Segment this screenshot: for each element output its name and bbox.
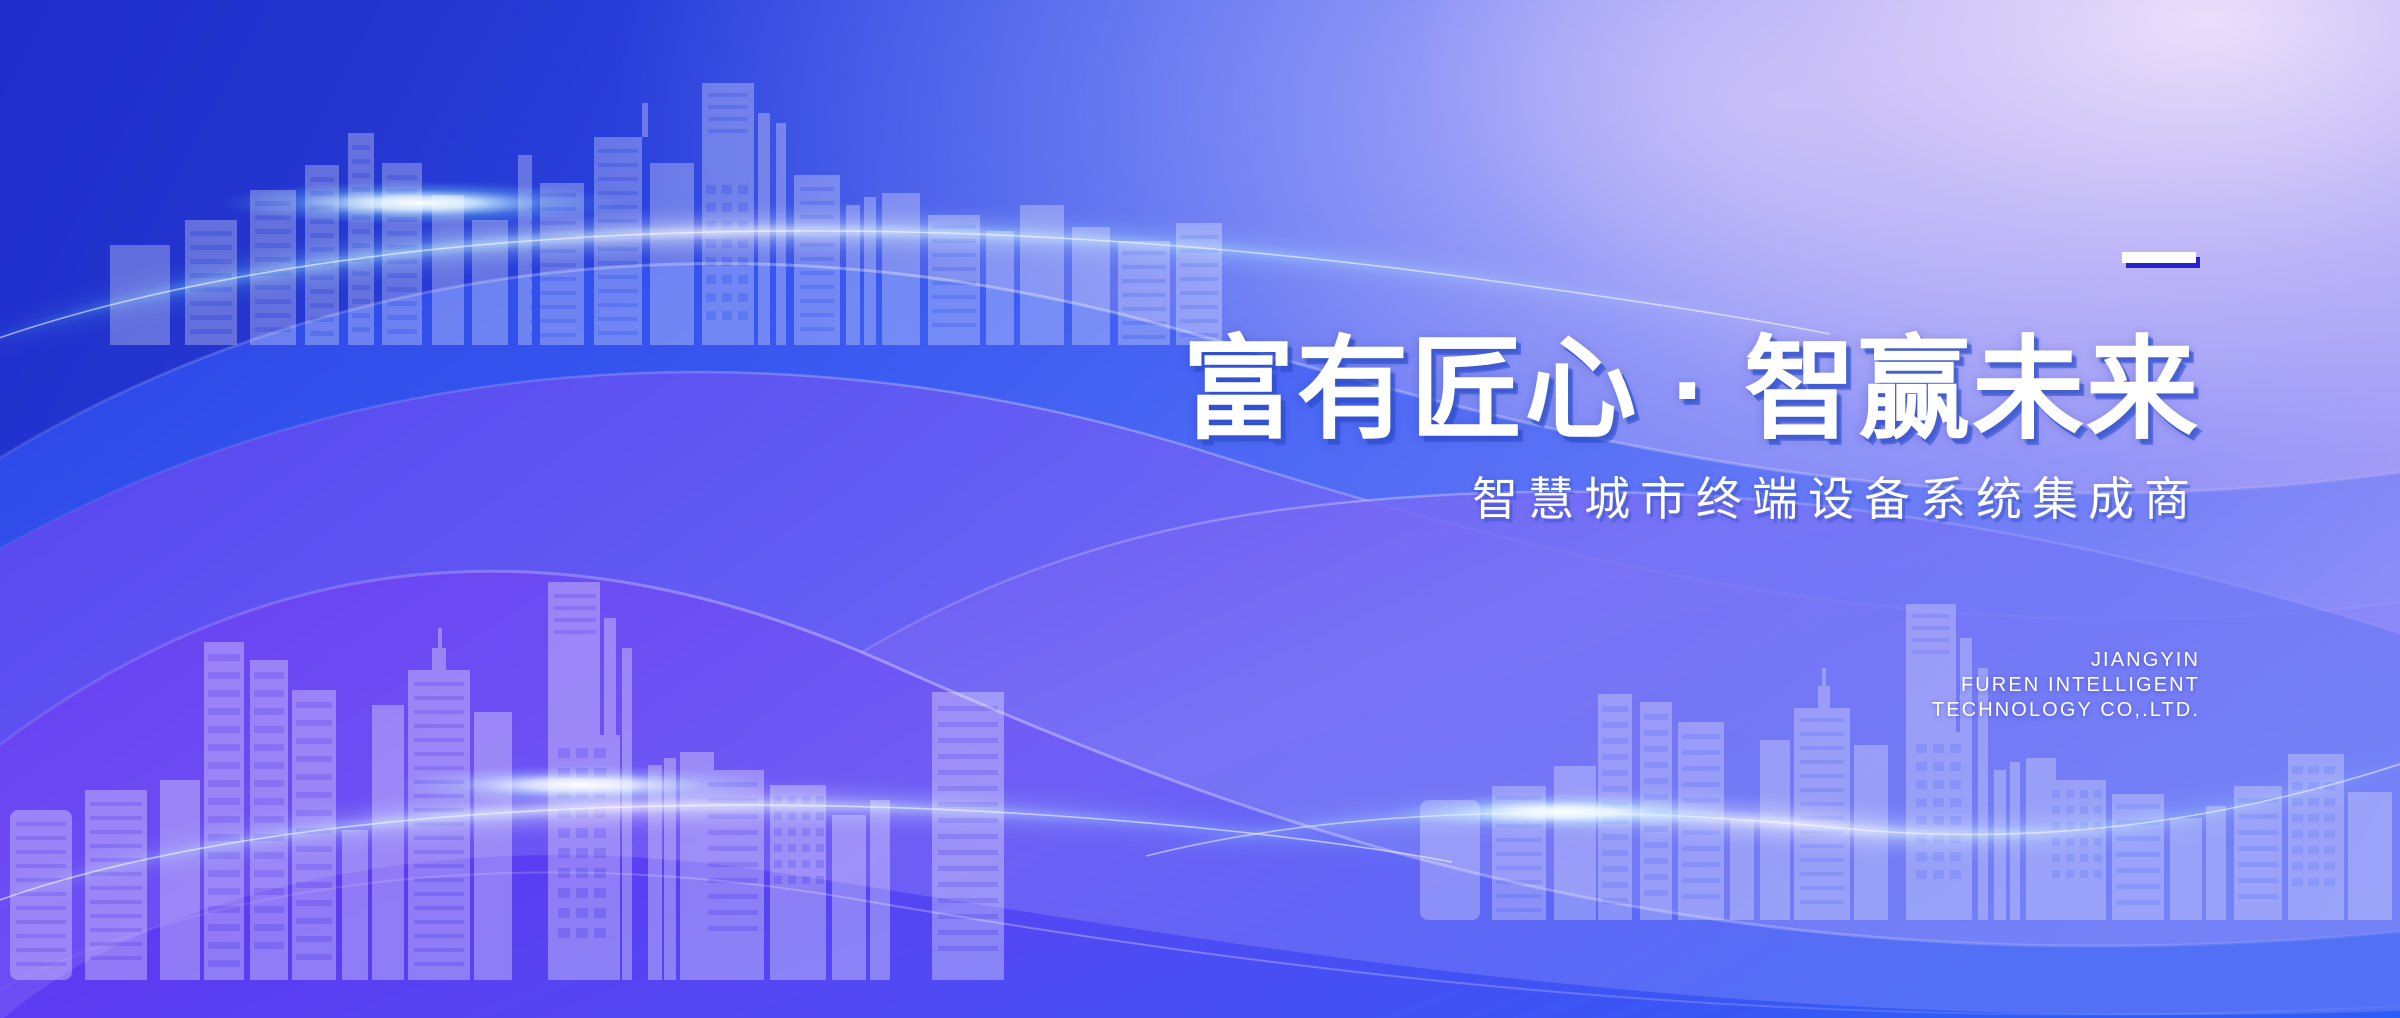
company-line-1: JIANGYIN (1932, 648, 2200, 673)
glow-arc-lower-right (1140, 740, 2400, 960)
company-name-block: JIANGYIN FUREN INTELLIGENT TECHNOLOGY CO… (1932, 648, 2200, 723)
company-line-3: TECHNOLOGY CO,.LTD. (1932, 698, 2200, 723)
city-skyline-bottom-right (1390, 590, 2400, 920)
page-subtitle: 智慧城市终端设备系统集成商 (1000, 476, 2200, 522)
headline-block: 富有匠心 · 智赢未来 智慧城市终端设备系统集成商 (1000, 252, 2200, 522)
horizontal-dash-rule-icon (2122, 252, 2196, 263)
marketing-banner: 富有匠心 · 智赢未来 智慧城市终端设备系统集成商 JIANGYIN FUREN… (0, 0, 2400, 1018)
city-skyline-bottom-left (0, 560, 1040, 980)
glow-arc-lower-left (0, 740, 1460, 960)
page-title: 富有匠心 · 智赢未来 (1000, 334, 2200, 446)
company-line-2: FUREN INTELLIGENT (1932, 673, 2200, 698)
